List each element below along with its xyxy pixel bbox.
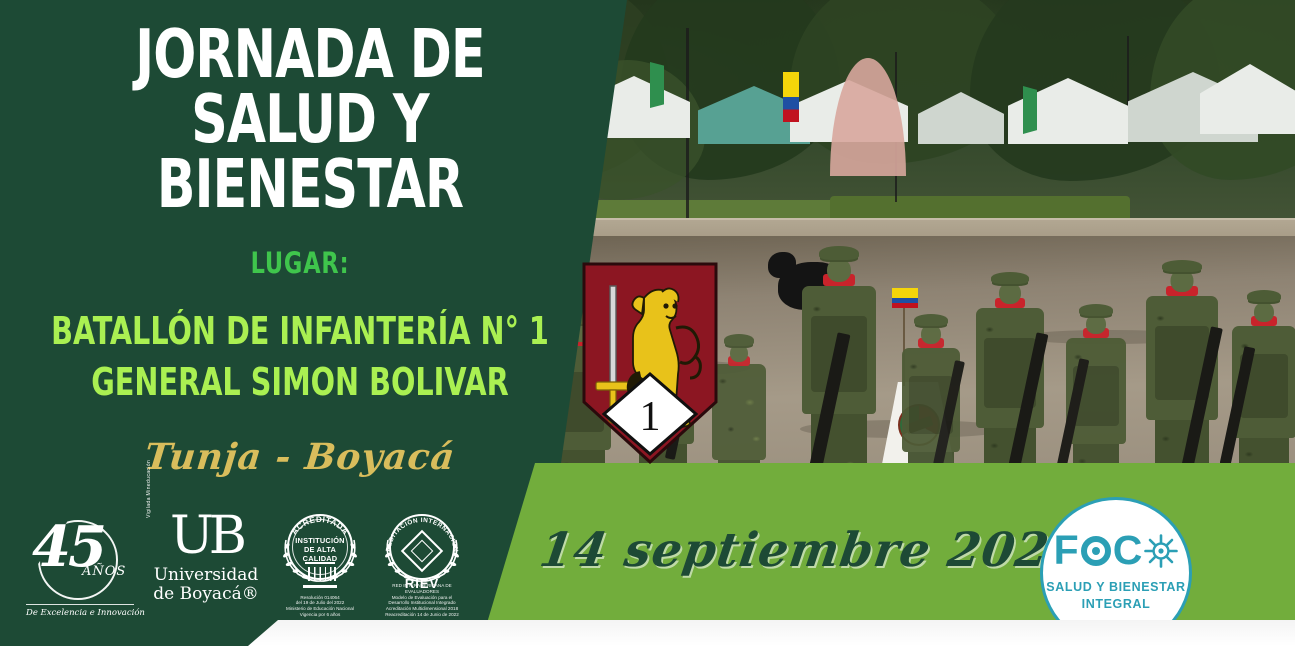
foco-sunburst-icon xyxy=(1144,534,1178,568)
university-name: Universidad de Boyacá® xyxy=(152,566,260,604)
university-monogram: UB xyxy=(152,510,260,562)
dog-icon xyxy=(768,252,796,278)
colombian-flag-pole-icon xyxy=(783,72,799,122)
seal-mid-2: DE ALTA xyxy=(304,545,336,554)
accreditation-quality-seal: ACREDITADA INSTITUCIÓN DE ALTA CALIDAD R… xyxy=(278,510,362,618)
green-flag-icon xyxy=(1023,86,1037,134)
seal-foot-4: Acreditación Multidimensional 2018 xyxy=(386,606,458,611)
page-title: JORNADA DE SALUD Y BIENESTAR xyxy=(50,22,571,217)
title-line-1: JORNADA DE SALUD Y xyxy=(50,22,571,152)
svg-text:ACREDITADA: ACREDITADA xyxy=(290,515,351,537)
venue-line-2: GENERAL SIMON BOLIVAR xyxy=(48,357,552,408)
battalion-shield-crest: 1 xyxy=(580,262,720,464)
venue-name: BATALLÓN DE INFANTERÍA N° 1 GENERAL SIMO… xyxy=(48,306,552,407)
venue-line-1: BATALLÓN DE INFANTERÍA N° 1 xyxy=(48,306,552,357)
accreditation-international-seal: ACREDITACIÓN INTERNACIONAL RIEV RED INTE… xyxy=(380,510,464,618)
event-date: 14 septiembre 2024 xyxy=(536,523,1087,578)
foco-subtitle-2: INTEGRAL xyxy=(1082,597,1151,611)
lugar-label: LUGAR: xyxy=(42,246,558,280)
vigilancia-text: Vigilada Mineducación xyxy=(146,460,152,518)
foco-letter-c: C xyxy=(1113,530,1143,571)
shield-number: 1 xyxy=(640,394,661,440)
anniversary-logo: 45 AÑOS De Excelencia e Innovación xyxy=(26,508,134,620)
foco-letter-o-dot-icon xyxy=(1081,536,1111,566)
seal-footnote: RED INTERAMERICANA DE EVALUADORES Modelo… xyxy=(380,583,464,618)
university-logo: Vigilada Mineducación UB Universidad de … xyxy=(152,508,260,620)
title-line-2: BIENESTAR xyxy=(50,152,571,217)
anniversary-tagline: De Excelencia e Innovación xyxy=(26,604,134,618)
seal-foot-1: Resolución 014064 xyxy=(300,595,339,600)
seal-foot-2: Modelo de Evaluación para el xyxy=(392,595,453,600)
anniversary-unit: AÑOS xyxy=(82,564,126,579)
poster-root: JORNADA DE SALUD Y BIENESTAR LUGAR: BATA… xyxy=(0,0,1295,646)
seal-mid-text: INSTITUCIÓN DE ALTA CALIDAD xyxy=(291,536,349,563)
foco-wordmark: F C xyxy=(1054,530,1179,571)
seal-foot-1: RED INTERAMERICANA DE EVALUADORES xyxy=(392,583,451,594)
seal-foot-2: del 19 de Julio del 2022 xyxy=(296,600,345,605)
seal-foot-5: Reacreditación 14 de Junio de 2022 xyxy=(385,612,459,617)
seal-mid-1: INSTITUCIÓN xyxy=(295,536,344,545)
logo-row: 45 AÑOS De Excelencia e Innovación Vigil… xyxy=(26,508,464,620)
seal-footnote: Resolución 014064 del 19 de Julio del 20… xyxy=(278,595,362,619)
foco-subtitle-1: SALUD Y BIENESTAR xyxy=(1046,580,1185,594)
university-name-line-1: Universidad xyxy=(154,565,259,585)
seal-foot-4: Vigencia por 6 años xyxy=(300,612,341,617)
seal-arc-label: ACREDITADA xyxy=(290,515,351,537)
university-name-line-2: de Boyacá® xyxy=(153,584,258,604)
city-script: Tunja - Boyacá xyxy=(0,436,602,478)
seal-foot-3: Desarrollo Institucional Integrado xyxy=(388,600,455,605)
seal-foot-3: Ministerio de Educación Nacional xyxy=(286,606,354,611)
building-icon xyxy=(305,562,335,586)
foco-letter-f: F xyxy=(1054,530,1079,571)
